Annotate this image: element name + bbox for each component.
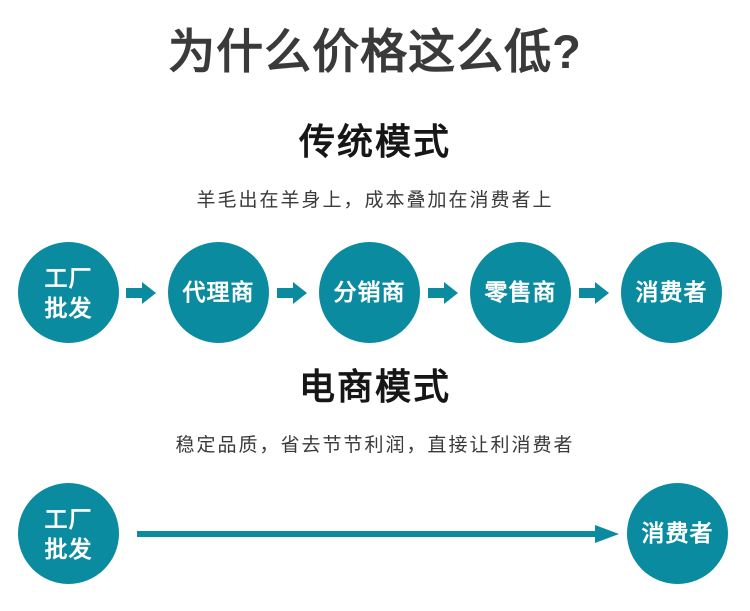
arrow-right-long-icon bbox=[137, 523, 619, 545]
arrow-right-icon bbox=[277, 282, 307, 304]
flow-node-label: 零售商 bbox=[485, 279, 557, 306]
flow-node-label: 消费者 bbox=[636, 279, 708, 306]
section-heading-ecommerce: 电商模式 bbox=[0, 363, 750, 411]
flow-node-retailer[interactable]: 零售商 bbox=[470, 242, 571, 343]
flow-node-consumer[interactable]: 消费者 bbox=[627, 483, 728, 584]
flow-node-label: 分销商 bbox=[334, 279, 406, 306]
flow-node-label: 工厂 批发 bbox=[45, 263, 93, 323]
flow-node-label: 代理商 bbox=[183, 279, 255, 306]
arrow-right-icon bbox=[126, 282, 156, 304]
section-heading-traditional: 传统模式 bbox=[0, 118, 750, 166]
infographic-page: 为什么价格这么低? 传统模式 羊毛出在羊身上，成本叠加在消费者上 工厂 批发 代… bbox=[0, 0, 750, 611]
flow-node-label: 消费者 bbox=[642, 520, 714, 547]
flow-node-distributor[interactable]: 分销商 bbox=[319, 242, 420, 343]
page-title: 为什么价格这么低? bbox=[0, 22, 750, 82]
arrow-right-icon bbox=[428, 282, 458, 304]
flow-node-agent[interactable]: 代理商 bbox=[168, 242, 269, 343]
flow-node-label: 工厂 批发 bbox=[45, 504, 93, 564]
section-subtitle-ecommerce: 稳定品质，省去节节利润，直接让利消费者 bbox=[0, 432, 750, 460]
flow-node-factory-wholesale[interactable]: 工厂 批发 bbox=[18, 483, 119, 584]
flow-row-traditional: 工厂 批发 代理商 分销商 零售商 bbox=[0, 242, 750, 344]
arrow-right-icon bbox=[579, 282, 609, 304]
flow-node-consumer[interactable]: 消费者 bbox=[621, 242, 722, 343]
flow-row-ecommerce: 工厂 批发 消费者 bbox=[0, 483, 750, 585]
section-subtitle-traditional: 羊毛出在羊身上，成本叠加在消费者上 bbox=[0, 187, 750, 215]
flow-node-factory-wholesale[interactable]: 工厂 批发 bbox=[18, 242, 119, 343]
